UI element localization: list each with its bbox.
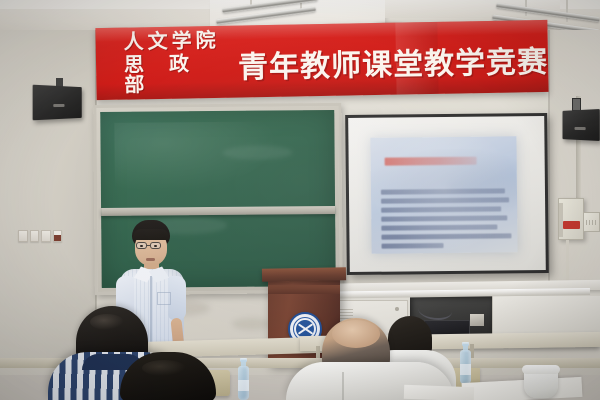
projection-screen [345,113,549,275]
power-outlet[interactable] [53,230,63,242]
presenter-fringe [133,229,169,240]
left-wall [0,30,96,360]
screen-surface [348,116,546,272]
lectern-top [262,267,346,281]
speaker-badge [575,126,586,129]
event-banner: 人文学院 思 政 部 青年教师课堂教学竞赛 [95,20,548,100]
light-hanger [566,0,568,22]
breaker-box [583,212,600,232]
glasses-bridge [147,245,151,246]
switch[interactable] [41,230,51,242]
banner-main-title: 青年教师课堂教学竞赛 [238,36,549,86]
presenter-eye [154,245,157,247]
scalp-highlight [332,320,380,348]
speaker-badge [53,104,64,107]
electrical-panel-box [558,198,584,240]
papers [404,385,474,400]
classroom-photo: 人文学院 思 政 部 青年教师课堂教学竞赛 [0,0,600,400]
bottle-label [238,380,249,391]
panel-warning-label [563,221,580,229]
banner-org-line1: 人文学院 [123,30,235,52]
lectern-bevel [268,285,340,294]
switch[interactable] [18,230,28,242]
bottle-label [460,364,471,375]
presenter-eye [140,245,143,247]
banner-org-line2: 思 政 部 [124,52,237,95]
breaker-row [586,220,597,225]
wall-speaker-right [563,109,600,141]
cup [524,368,558,398]
presenter-mouth [146,258,155,261]
panel-hinge [559,203,563,237]
switch[interactable] [30,230,40,242]
hair-highlight [142,360,186,376]
av-equipment-box [470,314,484,326]
wall-smudge [232,318,272,330]
cup-lid [522,365,560,374]
light-switch-panel[interactable] [18,230,62,242]
chalkboard-rail [101,206,335,216]
hair-highlight [90,314,124,330]
cabinet-lock[interactable] [395,307,399,311]
screen-sheen [348,116,546,272]
banner-organizer: 人文学院 思 政 部 [123,30,236,95]
cable-bundle [418,300,452,320]
shirt-fold [342,372,344,400]
wall-speaker-left [33,85,82,121]
shirt-pocket [157,292,171,305]
